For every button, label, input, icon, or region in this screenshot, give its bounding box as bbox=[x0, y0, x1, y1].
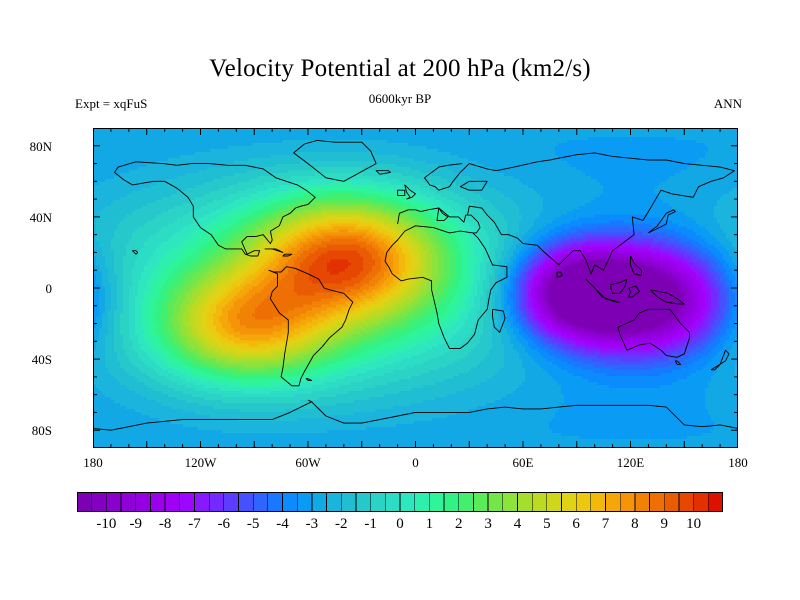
y-tick-80S: 80S bbox=[0, 423, 52, 439]
page-title: Velocity Potential at 200 hPa (km2/s) bbox=[0, 56, 800, 81]
colorbar-tick-10: 10 bbox=[674, 516, 714, 533]
experiment-label: Expt = xqFuS bbox=[75, 97, 147, 110]
x-tick-60E: 60E bbox=[493, 455, 553, 471]
y-tick-40S: 40S bbox=[0, 352, 52, 368]
map-plot-area bbox=[93, 128, 738, 448]
x-tick-0: 0 bbox=[386, 455, 446, 471]
season-label: ANN bbox=[714, 97, 742, 110]
x-tick-180: 180 bbox=[63, 455, 123, 471]
y-tick-40N: 40N bbox=[0, 210, 52, 226]
y-tick-0: 0 bbox=[0, 281, 52, 297]
velocity-potential-field bbox=[93, 128, 738, 448]
x-tick-180: 180 bbox=[708, 455, 768, 471]
y-tick-80N: 80N bbox=[0, 139, 52, 155]
colorbar bbox=[77, 492, 723, 512]
figure-canvas: Velocity Potential at 200 hPa (km2/s) 06… bbox=[0, 0, 800, 600]
x-tick-60W: 60W bbox=[278, 455, 338, 471]
x-tick-120E: 120E bbox=[601, 455, 661, 471]
x-tick-120W: 120W bbox=[171, 455, 231, 471]
